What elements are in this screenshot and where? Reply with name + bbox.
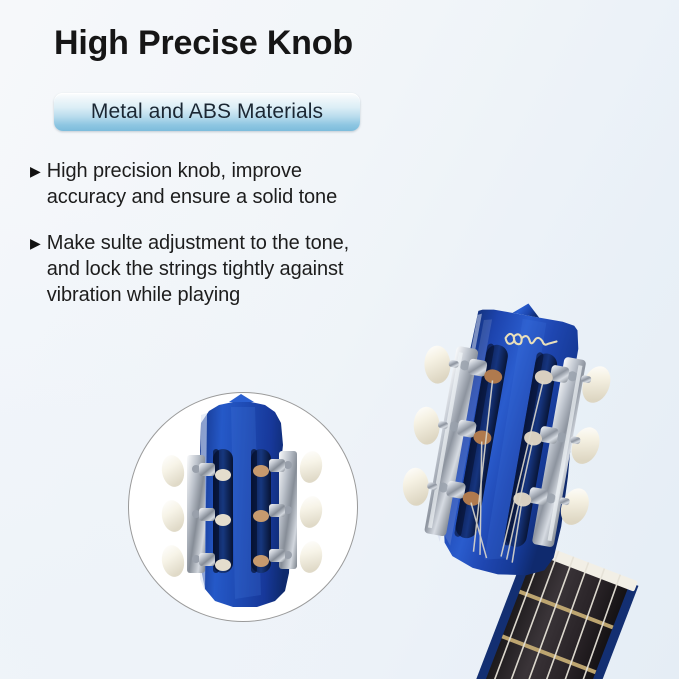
string-posts	[462, 360, 554, 516]
feature-text: High precision knob, improve accuracy an…	[47, 158, 337, 210]
materials-badge-label: Metal and ABS Materials	[91, 100, 323, 124]
tuner-plate-left	[424, 346, 479, 537]
feature-line: Make sulte adjustment to the tone,	[47, 232, 349, 254]
inset-tuner-bank-right	[269, 449, 325, 574]
guitar-neck	[451, 540, 640, 679]
list-item: ▶ High precision knob, improve accuracy …	[30, 158, 450, 210]
inset-headstock	[159, 394, 324, 607]
feature-line: and lock the strings tightly against	[47, 258, 344, 280]
inset-tuner-buttons-left	[159, 453, 186, 578]
headstock-body	[387, 287, 625, 588]
tuner-plate-right	[532, 357, 587, 548]
promo-page: High Precise Knob Metal and ABS Material…	[0, 0, 679, 679]
tuner-bank-right	[521, 355, 617, 553]
headstock-front-detail	[129, 393, 358, 622]
tuner-bank-left	[392, 340, 490, 539]
bullet-arrow-icon: ▶	[30, 231, 41, 256]
detail-zoom-circle	[128, 392, 358, 622]
feature-line: High precision knob, improve	[47, 160, 302, 182]
brand-logo-adm	[505, 333, 557, 348]
feature-text: Make sulte adjustment to the tone, and l…	[47, 230, 349, 308]
feature-line: vibration while playing	[47, 284, 240, 306]
list-item: ▶ Make sulte adjustment to the tone, and…	[30, 230, 450, 308]
page-title: High Precise Knob	[54, 24, 353, 63]
inset-tuner-buttons-right	[297, 449, 324, 574]
feature-list: ▶ High precision knob, improve accuracy …	[30, 158, 450, 328]
tuner-buttons-right	[555, 361, 617, 531]
tuner-buttons-left	[396, 341, 458, 511]
bullet-arrow-icon: ▶	[30, 159, 41, 184]
materials-badge: Metal and ABS Materials	[54, 93, 360, 131]
inset-tuner-bank-left	[159, 453, 215, 578]
feature-line: accuracy and ensure a solid tone	[47, 186, 337, 208]
